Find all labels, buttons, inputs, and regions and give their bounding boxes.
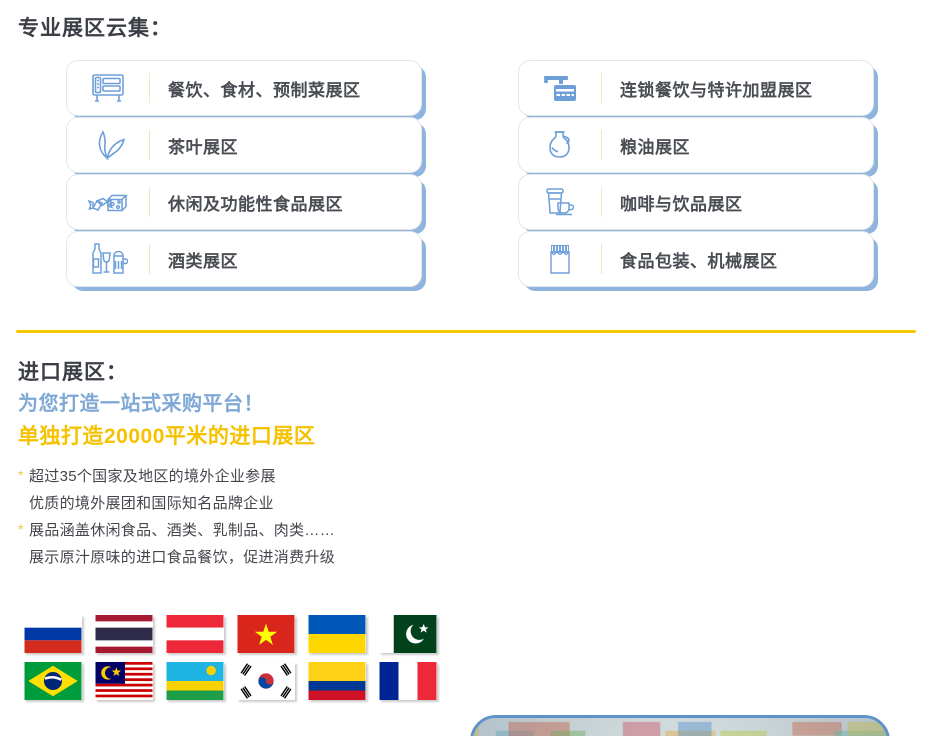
list-item: 展示原汁原味的进口食品餐饮，促进消费升级 bbox=[18, 544, 448, 571]
photo-frame bbox=[470, 715, 890, 736]
zone-card-packaging[interactable]: 食品包装、机械展区 bbox=[518, 231, 874, 287]
import-highlight: 单独打造20000平米的进口展区 bbox=[18, 420, 448, 454]
brazil-flag bbox=[24, 662, 82, 700]
oil-jug-icon bbox=[519, 118, 601, 172]
pakistan-flag bbox=[379, 615, 437, 653]
flag-cell bbox=[231, 612, 301, 656]
zone-card-label: 食品包装、机械展区 bbox=[602, 247, 778, 272]
import-point-text: 展品涵盖休闲食品、酒类、乳制品、肉类…… bbox=[29, 522, 335, 539]
import-point-text: 展示原汁原味的进口食品餐饮，促进消费升级 bbox=[29, 549, 335, 566]
import-heading: 进口展区： bbox=[18, 358, 448, 388]
import-point-text: 超过35个国家及地区的境外企业参展 bbox=[29, 468, 276, 485]
zone-card-label: 咖啡与饮品展区 bbox=[602, 190, 743, 215]
rwanda-flag bbox=[166, 662, 224, 700]
zone-card-catering[interactable]: 餐饮、食材、预制菜展区 bbox=[66, 60, 422, 116]
zone-card-label: 粮油展区 bbox=[602, 133, 690, 158]
coffee-cup-icon bbox=[519, 175, 601, 229]
malaysia-flag bbox=[95, 662, 153, 700]
thailand-flag bbox=[95, 615, 153, 653]
zones-heading: 专业展区云集： bbox=[18, 12, 172, 42]
colombia-flag bbox=[308, 662, 366, 700]
country-flag-grid bbox=[18, 612, 443, 703]
flag-cell bbox=[373, 612, 443, 656]
snack-cheese-icon bbox=[67, 175, 149, 229]
zone-card-label: 休闲及功能性食品展区 bbox=[150, 190, 343, 215]
oven-icon bbox=[67, 61, 149, 115]
storefront-card-icon bbox=[519, 61, 601, 115]
zone-card-snacks[interactable]: 休闲及功能性食品展区 bbox=[66, 174, 422, 230]
flag-cell bbox=[302, 659, 372, 703]
zone-column-right: 连锁餐饮与特许加盟展区 粮油展区 bbox=[518, 60, 874, 288]
zone-card-tea[interactable]: 茶叶展区 bbox=[66, 117, 422, 173]
zone-column-left: 餐饮、食材、预制菜展区 茶叶展区 bbox=[66, 60, 422, 288]
austria-flag bbox=[166, 615, 224, 653]
zone-card-alcohol[interactable]: 酒类展区 bbox=[66, 231, 422, 287]
list-item: 超过35个国家及地区的境外企业参展 bbox=[18, 463, 448, 490]
flag-cell bbox=[231, 659, 301, 703]
list-item: 展品涵盖休闲食品、酒类、乳制品、肉类…… bbox=[18, 517, 448, 544]
france-flag bbox=[379, 662, 437, 700]
zone-card-label: 酒类展区 bbox=[150, 247, 238, 272]
zone-card-label: 餐饮、食材、预制菜展区 bbox=[150, 76, 361, 101]
zone-card-label: 连锁餐饮与特许加盟展区 bbox=[602, 76, 813, 101]
flag-cell bbox=[160, 612, 230, 656]
import-point-text: 优质的境外展团和国际知名品牌企业 bbox=[29, 495, 274, 512]
import-points-list: 超过35个国家及地区的境外企业参展 优质的境外展团和国际知名品牌企业 展品涵盖休… bbox=[18, 463, 448, 571]
import-subheading: 为您打造一站式采购平台！ bbox=[18, 388, 448, 420]
south-korea-flag bbox=[237, 662, 295, 700]
audience-photo bbox=[473, 718, 887, 736]
russia-flag bbox=[24, 615, 82, 653]
flag-cell bbox=[18, 659, 88, 703]
flag-cell bbox=[18, 612, 88, 656]
tea-leaf-icon bbox=[67, 118, 149, 172]
ukraine-flag bbox=[308, 615, 366, 653]
flag-cell bbox=[89, 659, 159, 703]
zone-card-grain-oil[interactable]: 粮油展区 bbox=[518, 117, 874, 173]
list-item: 优质的境外展团和国际知名品牌企业 bbox=[18, 490, 448, 517]
drinks-icon bbox=[67, 232, 149, 286]
audience-photo-bubble bbox=[470, 715, 890, 736]
import-zone-section: 进口展区： 为您打造一站式采购平台！ 单独打造20000平米的进口展区 超过35… bbox=[0, 340, 932, 736]
professional-zones-section: 专业展区云集： 餐饮、食材、预制菜展区 bbox=[0, 0, 932, 330]
section-divider-rule bbox=[16, 330, 916, 333]
zone-card-coffee[interactable]: 咖啡与饮品展区 bbox=[518, 174, 874, 230]
flag-cell bbox=[160, 659, 230, 703]
import-text-block: 进口展区： 为您打造一站式采购平台！ 单独打造20000平米的进口展区 超过35… bbox=[18, 358, 448, 571]
vietnam-flag bbox=[237, 615, 295, 653]
zone-card-franchise[interactable]: 连锁餐饮与特许加盟展区 bbox=[518, 60, 874, 116]
zone-card-label: 茶叶展区 bbox=[150, 133, 238, 158]
flag-cell bbox=[373, 659, 443, 703]
package-machine-icon bbox=[519, 232, 601, 286]
flag-cell bbox=[89, 612, 159, 656]
flag-cell bbox=[302, 612, 372, 656]
